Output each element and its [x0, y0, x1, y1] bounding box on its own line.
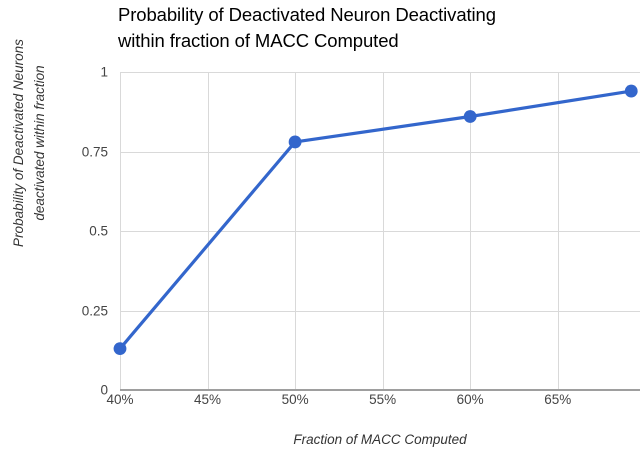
x-tick-label: 65%	[544, 392, 571, 407]
x-tick-label: 45%	[194, 392, 221, 407]
data-point-marker	[289, 136, 302, 149]
data-point-marker	[114, 342, 127, 355]
x-axis-title: Fraction of MACC Computed	[120, 432, 640, 447]
plot-area	[120, 72, 640, 390]
line-series	[120, 72, 640, 390]
y-tick-label: 0.5	[89, 224, 108, 239]
y-tick-label: 1	[100, 65, 108, 80]
chart-title: Probability of Deactivated Neuron Deacti…	[118, 2, 628, 54]
y-tick-label: 0.25	[82, 303, 108, 318]
x-axis-tick-labels: 40%45%50%55%60%65%	[120, 392, 640, 416]
y-axis-title: Probability of Deactivated Neurons deact…	[8, 0, 54, 298]
y-tick-label: 0.75	[82, 144, 108, 159]
x-tick-label: 50%	[282, 392, 309, 407]
data-point-marker	[625, 85, 638, 98]
x-tick-label: 55%	[369, 392, 396, 407]
x-tick-label: 40%	[106, 392, 133, 407]
series-line	[120, 91, 631, 349]
data-point-marker	[464, 110, 477, 123]
chart-container: Probability of Deactivated Neuron Deacti…	[0, 0, 640, 459]
x-tick-label: 60%	[457, 392, 484, 407]
